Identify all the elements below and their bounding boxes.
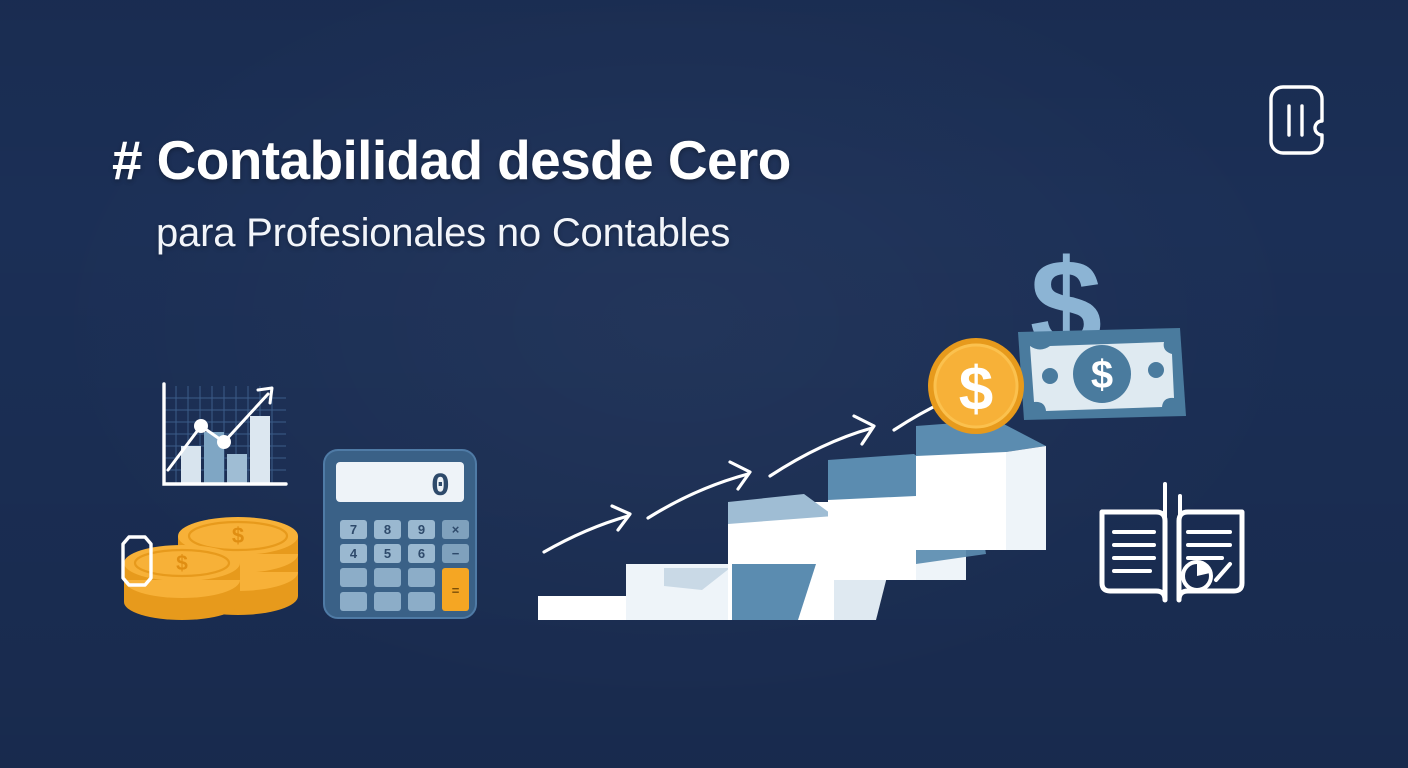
book-text-lines-right xyxy=(1188,532,1230,558)
bar-chart-growth-icon xyxy=(146,378,296,500)
svg-text:$: $ xyxy=(176,552,188,575)
svg-text:$: $ xyxy=(959,355,993,424)
svg-text:$: $ xyxy=(1091,353,1113,397)
outlined-zero-glyph xyxy=(120,533,154,589)
chart-node xyxy=(194,419,208,433)
book-text-lines-left xyxy=(1114,532,1154,571)
open-book-report-icon xyxy=(1092,482,1252,612)
svg-text:8: 8 xyxy=(384,522,391,537)
svg-text:−: − xyxy=(452,546,460,561)
chart-bar xyxy=(227,454,247,484)
svg-text:9: 9 xyxy=(418,522,425,537)
svg-text:4: 4 xyxy=(350,546,358,561)
svg-text:=: = xyxy=(452,583,460,598)
headline-block: # Contabilidad desde Cero para Profesion… xyxy=(112,132,791,255)
calculator-key xyxy=(408,568,435,587)
calculator-icon: 0 7 8 9 × 4 5 6 − xyxy=(322,448,478,620)
calculator-display-value: 0 xyxy=(431,468,450,505)
calculator-key xyxy=(340,592,367,611)
svg-text:5: 5 xyxy=(384,546,391,561)
promo-banner: # Contabilidad desde Cero para Profesion… xyxy=(0,0,1408,768)
book-pie-chart xyxy=(1183,562,1230,590)
gold-coin-icon: $ xyxy=(928,338,1024,434)
chart-bar xyxy=(181,446,201,484)
calculator-key xyxy=(374,592,401,611)
calculator-key xyxy=(408,592,435,611)
svg-text:$: $ xyxy=(232,523,244,548)
page-title: # Contabilidad desde Cero xyxy=(112,132,791,189)
svg-text:×: × xyxy=(452,522,460,537)
banknote-dot xyxy=(1148,362,1164,378)
step-block xyxy=(916,420,1046,550)
chart-bar xyxy=(250,416,270,484)
brand-logo-icon[interactable] xyxy=(1266,82,1330,158)
page-subtitle: para Profesionales no Contables xyxy=(156,211,791,255)
calculator-key xyxy=(374,568,401,587)
money-group-illustration: $ $ $ xyxy=(918,238,1208,438)
calculator-key xyxy=(340,568,367,587)
svg-text:7: 7 xyxy=(350,522,357,537)
svg-text:6: 6 xyxy=(418,546,425,561)
chart-node xyxy=(217,435,231,449)
banknote-dot xyxy=(1042,368,1058,384)
banknote-icon: $ xyxy=(1018,328,1186,420)
